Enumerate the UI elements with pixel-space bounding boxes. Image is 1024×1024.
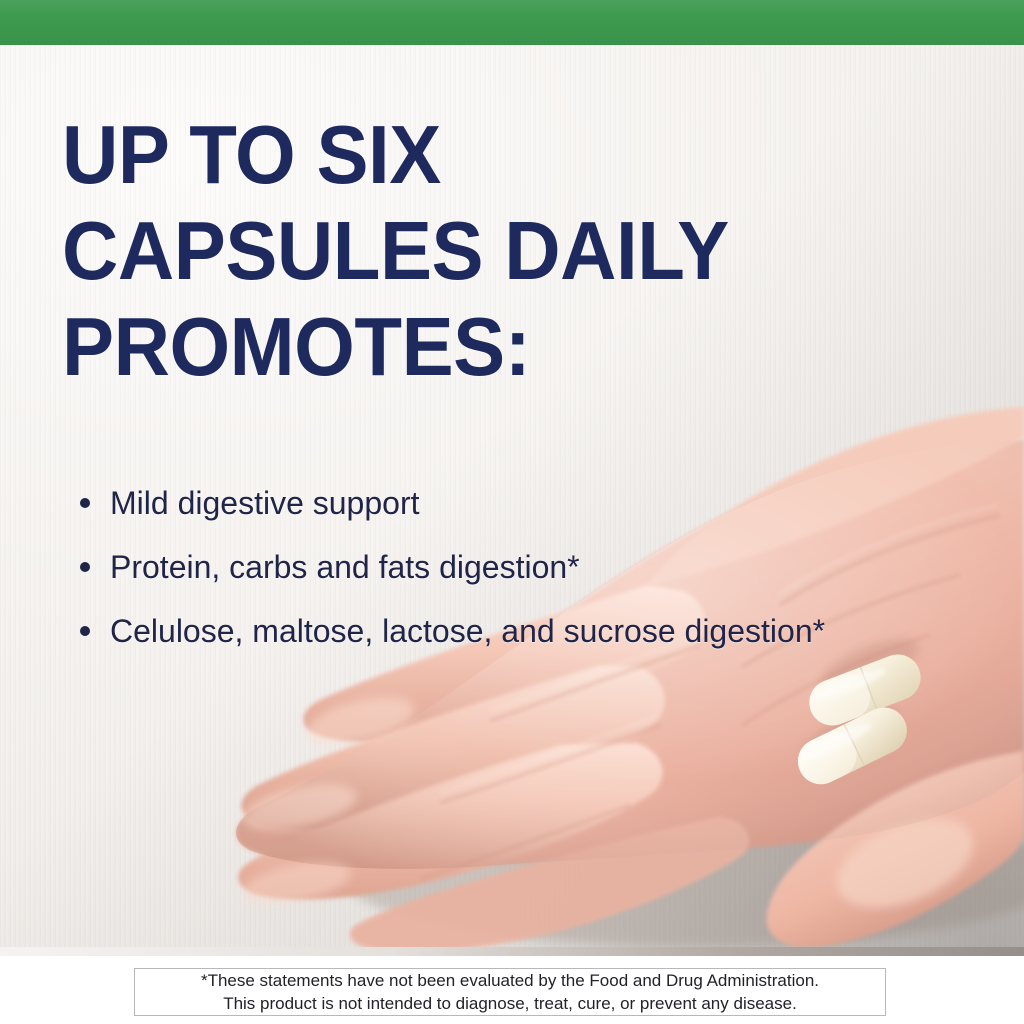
benefit-text: Mild digestive support <box>110 482 840 524</box>
bullet-dot-icon <box>80 498 90 508</box>
bullet-dot-icon <box>80 626 90 636</box>
disclaimer-line-1: *These statements have not been evaluate… <box>201 969 819 992</box>
list-item: Protein, carbs and fats digestion* <box>80 546 880 588</box>
green-bar-gradient <box>0 0 1024 45</box>
benefit-text: Celulose, maltose, lactose, and sucrose … <box>110 610 840 652</box>
list-item: Celulose, maltose, lactose, and sucrose … <box>80 610 880 652</box>
bullet-dot-icon <box>80 562 90 572</box>
benefits-list: Mild digestive support Protein, carbs an… <box>80 482 880 674</box>
product-photo: UP TO SIX CAPSULES DAILY PROMOTES: Mild … <box>0 45 1024 956</box>
headline-line-3: PROMOTES: <box>62 299 758 395</box>
photo-bottom-edge <box>0 947 1024 956</box>
benefit-text: Protein, carbs and fats digestion* <box>110 546 840 588</box>
headline-line-1: UP TO SIX <box>62 107 758 203</box>
page-title: UP TO SIX CAPSULES DAILY PROMOTES: <box>62 107 758 395</box>
list-item: Mild digestive support <box>80 482 880 524</box>
fda-disclaimer-box: *These statements have not been evaluate… <box>134 968 886 1016</box>
headline-line-2: CAPSULES DAILY <box>62 203 758 299</box>
disclaimer-line-2: This product is not intended to diagnose… <box>223 992 797 1015</box>
top-green-bar <box>0 0 1024 45</box>
product-infographic: UP TO SIX CAPSULES DAILY PROMOTES: Mild … <box>0 0 1024 1024</box>
footer: *These statements have not been evaluate… <box>0 956 1024 1024</box>
